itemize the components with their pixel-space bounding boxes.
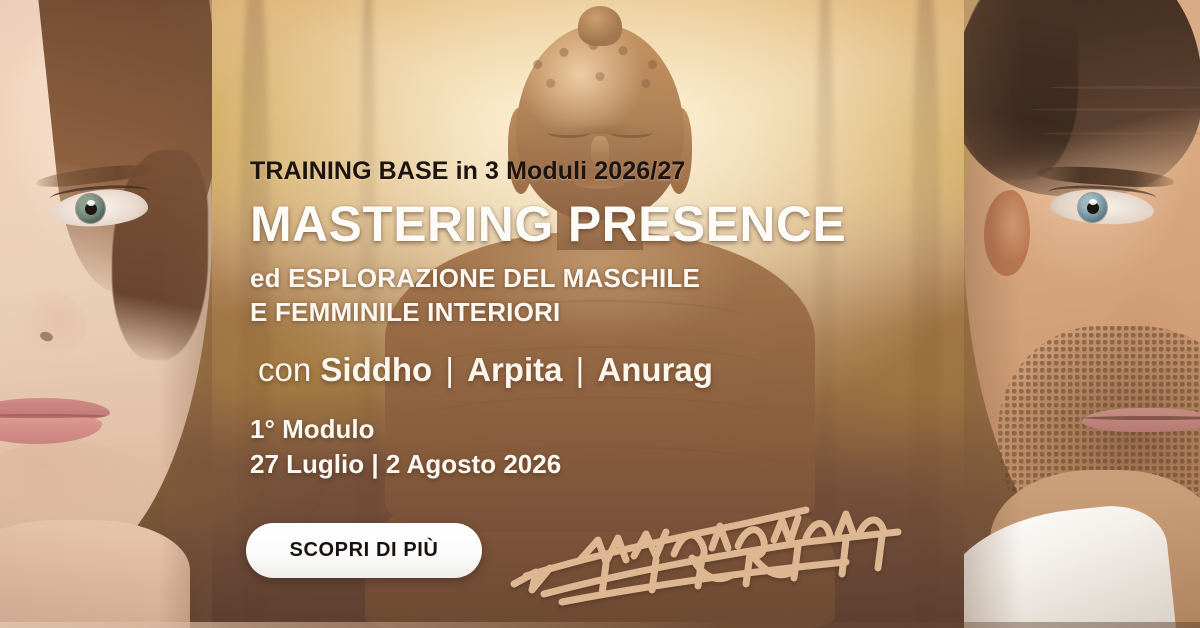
- promo-banner: TRAINING BASE in 3 Moduli 2026/27 MASTER…: [0, 0, 1200, 628]
- subtitle-line-2: E FEMMINILE INTERIORI: [250, 295, 890, 329]
- woman-portrait: [0, 0, 212, 628]
- presenters-prefix: con: [258, 351, 311, 388]
- presenter-name-3: Anurag: [597, 351, 713, 388]
- discover-more-button[interactable]: SCOPRI DI PIÙ: [246, 523, 482, 578]
- copy-block: TRAINING BASE in 3 Moduli 2026/27 MASTER…: [250, 158, 890, 483]
- presenter-separator-2: |: [572, 351, 589, 388]
- presenter-name-2: Arpita: [467, 351, 562, 388]
- presenter-name-1: Siddho: [320, 351, 432, 388]
- presenters-line: con Siddho | Arpita | Anurag: [258, 351, 890, 390]
- module-block: 1° Modulo 27 Luglio | 2 Agosto 2026: [250, 412, 890, 483]
- subtitle-line-1: ed ESPLORAZIONE DEL MASCHILE: [250, 261, 890, 295]
- module-dates: 27 Luglio | 2 Agosto 2026: [250, 447, 890, 482]
- module-label: 1° Modulo: [250, 412, 890, 447]
- man-portrait: [964, 0, 1200, 628]
- presenter-separator-1: |: [441, 351, 458, 388]
- bottom-strip: [0, 622, 1200, 628]
- eyebrow-text: TRAINING BASE in 3 Moduli 2026/27: [250, 158, 890, 186]
- page-title: MASTERING PRESENCE: [250, 198, 890, 250]
